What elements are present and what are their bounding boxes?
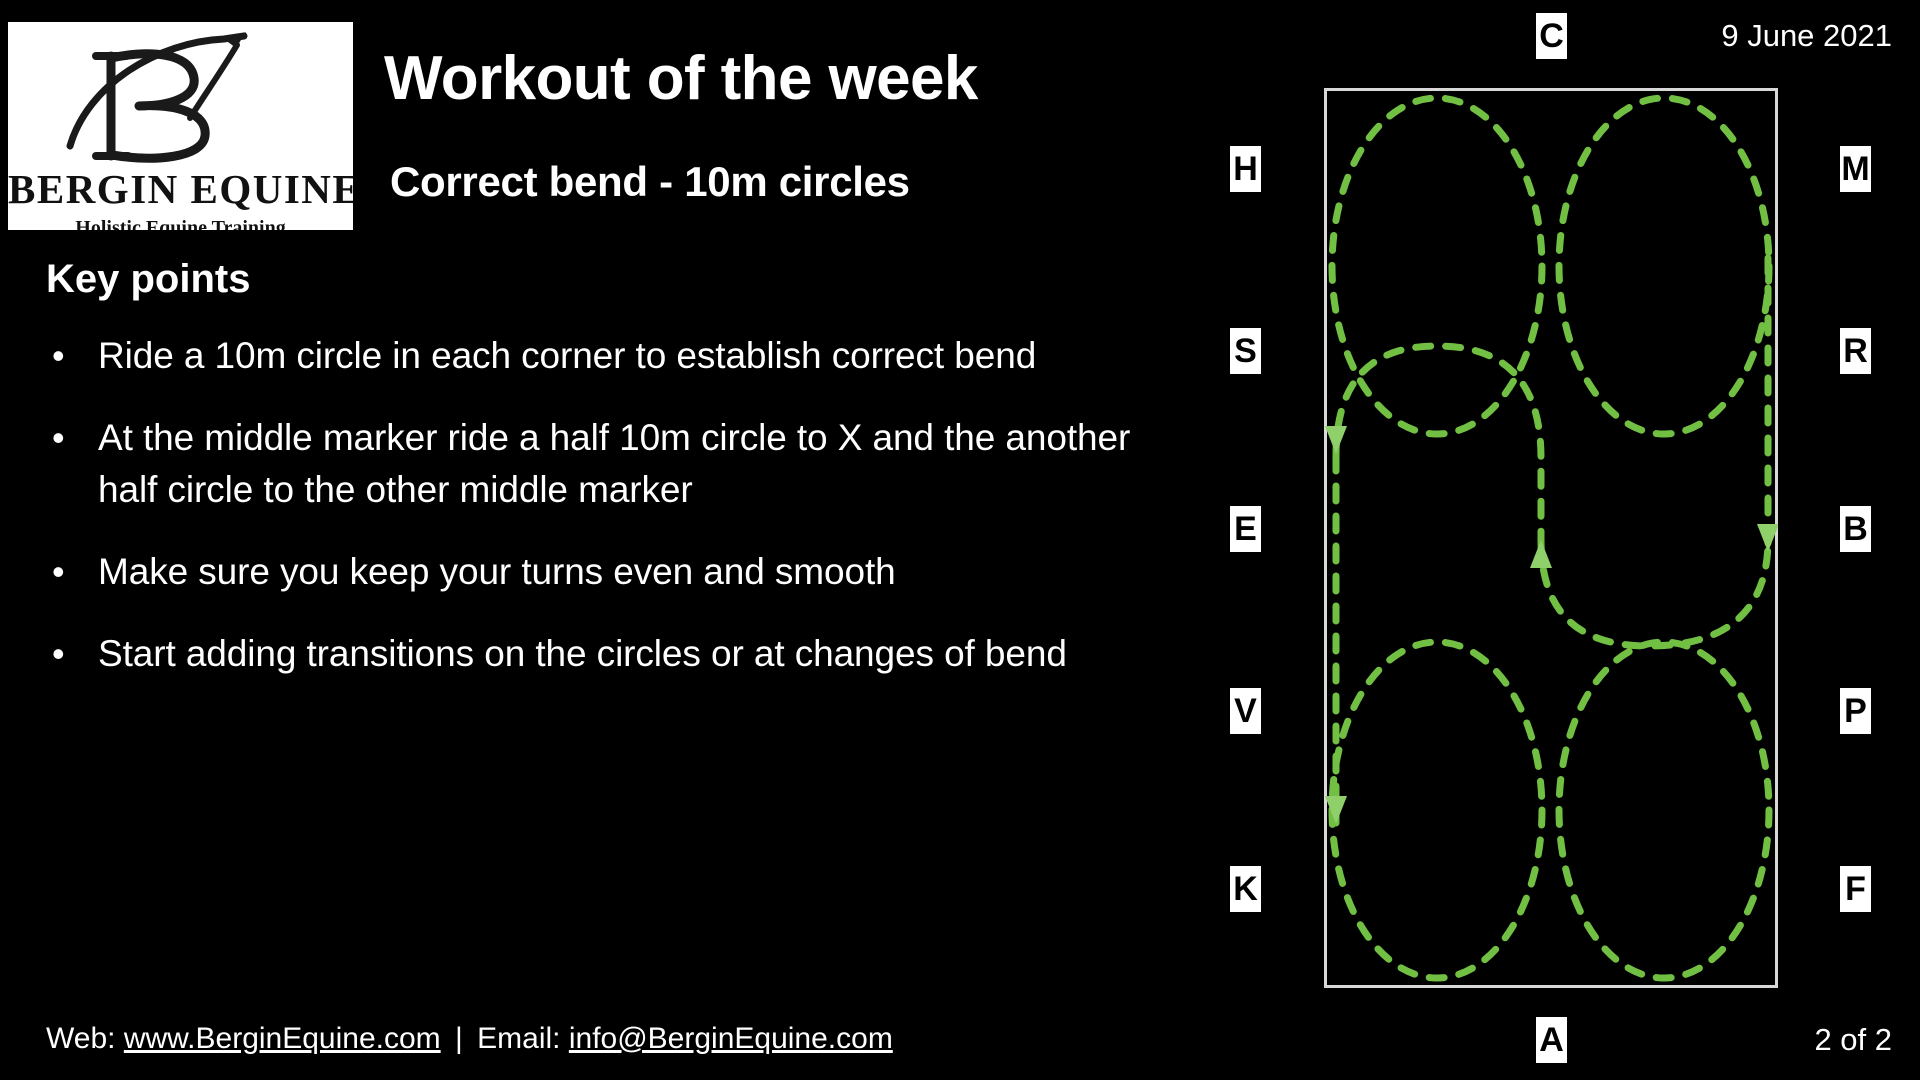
- list-item-text: At the middle marker ride a half 10m cir…: [98, 412, 1176, 516]
- key-points-list: • Ride a 10m circle in each corner to es…: [46, 330, 1176, 710]
- arena-marker-b: B: [1840, 506, 1871, 552]
- arena-marker-k: K: [1230, 866, 1261, 912]
- arrow-down-left-lower-icon: [1325, 796, 1347, 824]
- logo-tagline: Holistic Equine Training: [8, 218, 353, 230]
- list-item-text: Make sure you keep your turns even and s…: [98, 546, 1176, 598]
- arena-marker-c: C: [1536, 13, 1567, 59]
- logo-mark-icon: [8, 26, 353, 174]
- list-item-text: Start adding transitions on the circles …: [98, 628, 1176, 680]
- list-item: • At the middle marker ride a half 10m c…: [46, 412, 1176, 516]
- arrow-down-right-icon: [1757, 524, 1778, 552]
- list-item: • Start adding transitions on the circle…: [46, 628, 1176, 680]
- list-item: • Ride a 10m circle in each corner to es…: [46, 330, 1176, 382]
- footer-email-label: Email:: [477, 1022, 560, 1055]
- section-heading-key-points: Key points: [46, 258, 250, 300]
- bullet-dot-icon: •: [46, 628, 98, 680]
- circle-top-left: [1332, 98, 1542, 434]
- arena-marker-h: H: [1230, 146, 1261, 192]
- half-circle-lower-right: [1541, 540, 1768, 646]
- arrow-up-center-icon: [1530, 540, 1552, 568]
- circle-bottom-left: [1332, 642, 1542, 978]
- footer-website-link[interactable]: www.BerginEquine.com: [124, 1022, 441, 1055]
- footer-email-link[interactable]: info@BerginEquine.com: [569, 1022, 893, 1055]
- page-title: Workout of the week: [384, 46, 978, 111]
- arena-marker-p: P: [1840, 688, 1871, 734]
- bullet-dot-icon: •: [46, 330, 98, 382]
- dressage-arena-diagram: [1324, 88, 1778, 988]
- arena-marker-v: V: [1230, 688, 1261, 734]
- circle-bottom-right: [1559, 642, 1769, 978]
- date-label: 9 June 2021: [1721, 18, 1892, 54]
- arrow-down-left-upper-icon: [1325, 426, 1347, 454]
- arena-marker-r: R: [1840, 328, 1871, 374]
- bullet-dot-icon: •: [46, 546, 98, 598]
- list-item-text: Ride a 10m circle in each corner to esta…: [98, 330, 1176, 382]
- brand-logo: BERGIN EQUINE Holistic Equine Training: [8, 22, 353, 230]
- footer-contact: Web: www.BerginEquine.com | Email: info@…: [46, 1022, 893, 1056]
- arena-marker-s: S: [1230, 328, 1261, 374]
- logo-brand-name: BERGIN EQUINE: [8, 169, 353, 210]
- footer-web-label: Web:: [46, 1022, 115, 1055]
- arena-marker-e: E: [1230, 506, 1261, 552]
- list-item: • Make sure you keep your turns even and…: [46, 546, 1176, 598]
- arena-figure-paths: [1324, 88, 1778, 988]
- page-subtitle: Correct bend - 10m circles: [390, 160, 910, 204]
- arena-marker-a: A: [1536, 1017, 1567, 1063]
- arena-marker-m: M: [1840, 146, 1871, 192]
- arena-marker-f: F: [1840, 866, 1871, 912]
- bullet-dot-icon: •: [46, 412, 98, 464]
- half-circle-upper-left: [1336, 346, 1541, 540]
- direction-arrows: [1325, 426, 1778, 824]
- page-number: 2 of 2: [1814, 1022, 1892, 1058]
- circle-top-right: [1559, 98, 1769, 434]
- slide: BERGIN EQUINE Holistic Equine Training W…: [0, 0, 1920, 1080]
- footer-separator: |: [449, 1022, 469, 1055]
